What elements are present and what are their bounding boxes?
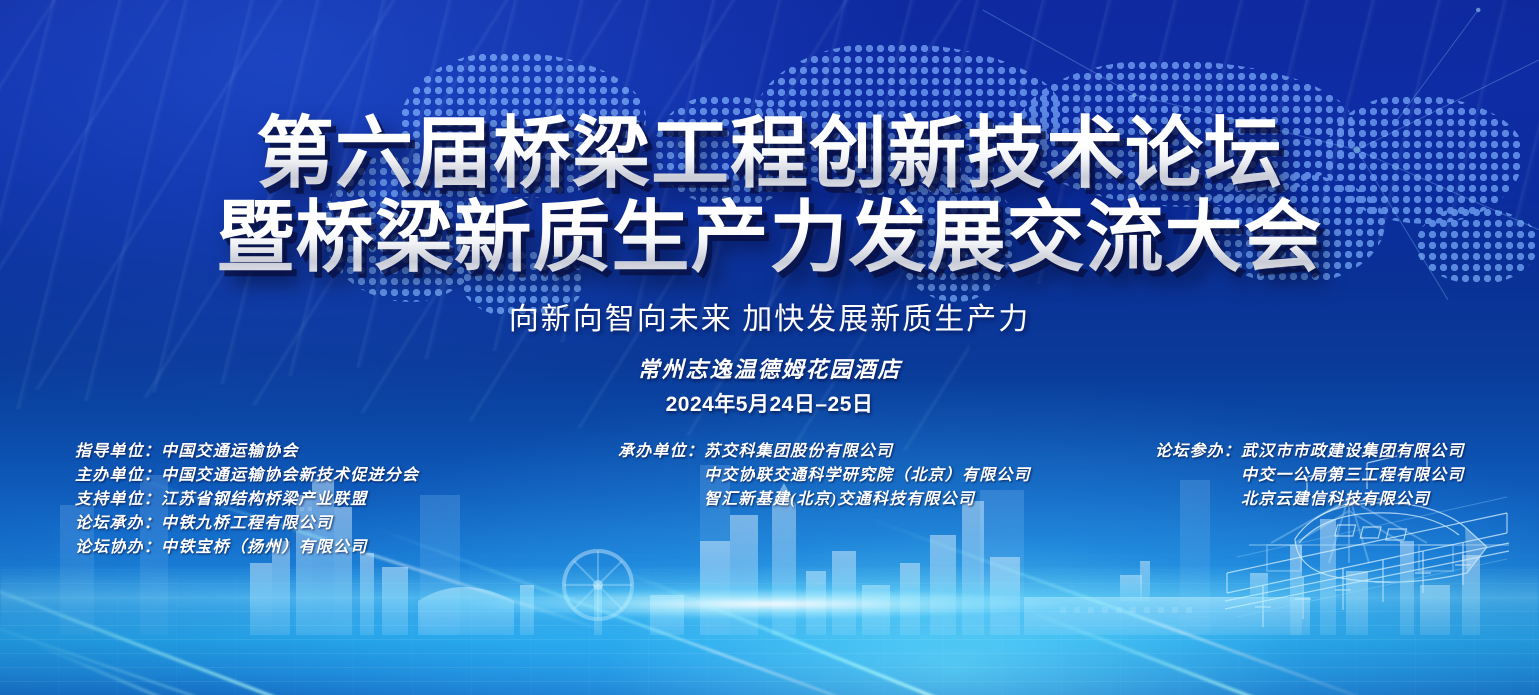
org-value: 中国交通运输协会新技术促进分会 [161, 464, 419, 488]
org-label: 承办单位： [618, 440, 704, 464]
org-label: 支持单位： [75, 488, 161, 512]
organizations-mid-column: 承办单位： 苏交科集团股份有限公司 承办单位： 中交协联交通科学研究院（北京）有… [618, 440, 1031, 512]
org-row: 论坛承办： 中铁九桥工程有限公司 [75, 512, 419, 536]
venue-name: 常州志逸温德姆花园酒店 [0, 352, 1539, 384]
organizations-left-column: 指导单位： 中国交通运输协会 主办单位： 中国交通运输协会新技术促进分会 支持单… [75, 440, 419, 560]
org-value: 北京云建信科技有限公司 [1241, 488, 1430, 512]
venue-block: 常州志逸温德姆花园酒店 2024年5月24日–25日 [0, 352, 1539, 418]
org-row: 承办单位： 中交协联交通科学研究院（北京）有限公司 [618, 464, 1031, 488]
org-label: 论坛协办： [75, 536, 161, 560]
org-label: 指导单位： [75, 440, 161, 464]
org-row: 承办单位： 智汇新基建(北京)交通科技有限公司 [618, 488, 1031, 512]
org-row: 论坛参办： 中交一公局第三工程有限公司 [1155, 464, 1465, 488]
org-row: 支持单位： 江苏省钢结构桥梁产业联盟 [75, 488, 419, 512]
org-value: 江苏省钢结构桥梁产业联盟 [161, 488, 367, 512]
org-value: 中国交通运输协会 [161, 440, 299, 464]
org-value: 苏交科集团股份有限公司 [704, 440, 893, 464]
org-value: 中铁九桥工程有限公司 [161, 512, 333, 536]
org-label: 论坛承办： [75, 512, 161, 536]
org-row: 指导单位： 中国交通运输协会 [75, 440, 419, 464]
org-label: 主办单位： [75, 464, 161, 488]
organizations-block: 指导单位： 中国交通运输协会 主办单位： 中国交通运输协会新技术促进分会 支持单… [0, 440, 1539, 570]
org-value: 中交一公局第三工程有限公司 [1241, 464, 1465, 488]
title-line-2: 暨桥梁新质生产力发展交流大会 [0, 196, 1539, 280]
org-row: 承办单位： 苏交科集团股份有限公司 [618, 440, 1031, 464]
org-row: 论坛协办： 中铁宝桥（扬州）有限公司 [75, 536, 419, 560]
org-value: 智汇新基建(北京)交通科技有限公司 [704, 488, 975, 512]
org-label: 论坛参办： [1155, 440, 1241, 464]
organizations-right-column: 论坛参办： 武汉市市政建设集团有限公司 论坛参办： 中交一公局第三工程有限公司 … [1155, 440, 1465, 512]
org-value: 中铁宝桥（扬州）有限公司 [161, 536, 367, 560]
org-value: 武汉市市政建设集团有限公司 [1241, 440, 1465, 464]
org-row: 论坛参办： 北京云建信科技有限公司 [1155, 488, 1465, 512]
title-block: 第六届桥梁工程创新技术论坛 暨桥梁新质生产力发展交流大会 [0, 112, 1539, 280]
title-line-1: 第六届桥梁工程创新技术论坛 [0, 112, 1539, 196]
event-dates: 2024年5月24日–25日 [0, 388, 1539, 418]
org-row: 论坛参办： 武汉市市政建设集团有限公司 [1155, 440, 1465, 464]
org-value: 中交协联交通科学研究院（北京）有限公司 [704, 464, 1031, 488]
conference-banner: 第六届桥梁工程创新技术论坛 暨桥梁新质生产力发展交流大会 向新向智向未来 加快发… [0, 0, 1539, 695]
org-row: 主办单位： 中国交通运输协会新技术促进分会 [75, 464, 419, 488]
subtitle: 向新向智向未来 加快发展新质生产力 [0, 294, 1539, 338]
